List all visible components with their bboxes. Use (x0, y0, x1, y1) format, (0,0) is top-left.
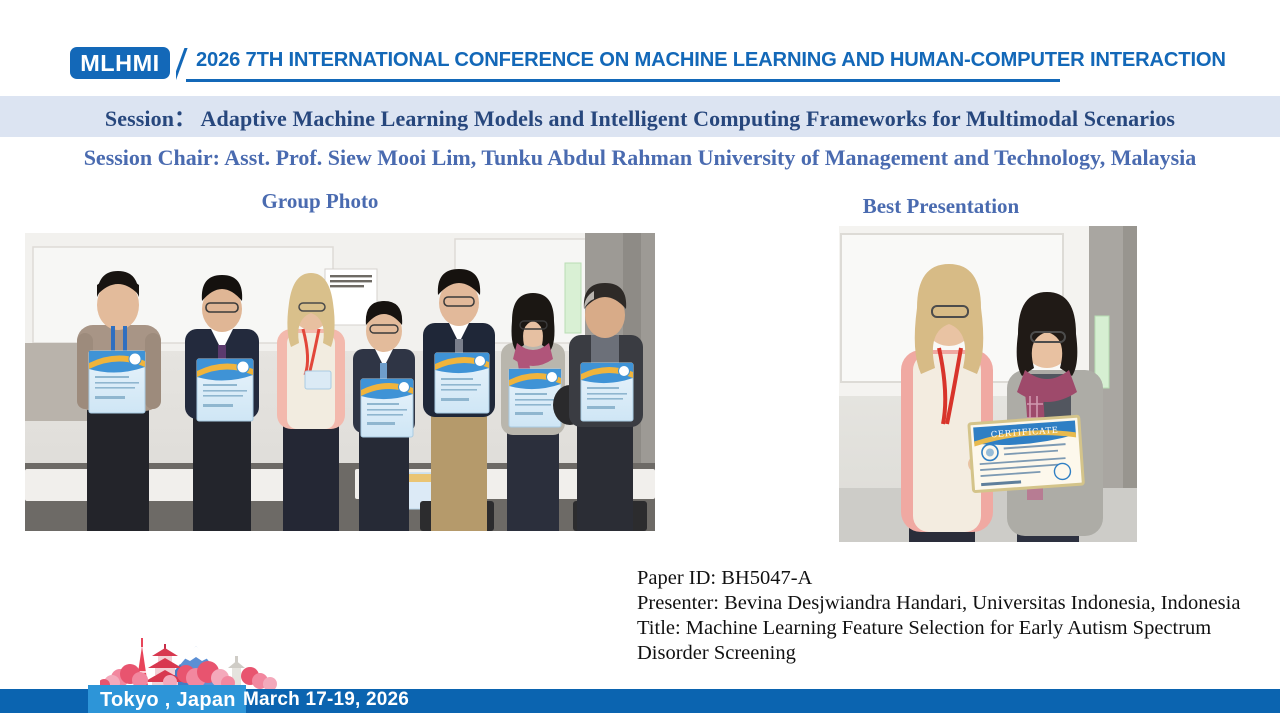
group-photo-image (25, 233, 655, 531)
footer-date-text: March 17-19, 2026 (243, 689, 409, 711)
session-title-text: Session： Adaptive Machine Learning Model… (105, 101, 1175, 133)
footer-location-chip: Tokyo , Japan (88, 685, 246, 715)
logo-divider-slash-icon (176, 48, 198, 81)
mlhmi-logo: MLHMI (70, 47, 170, 79)
slide-header: MLHMI 2026 7TH INTERNATIONAL CONFERENCE … (0, 0, 1280, 95)
paper-title-line: Title: Machine Learning Feature Selectio… (637, 616, 1277, 666)
footer-bottom-margin (0, 713, 1280, 720)
conference-slide: MLHMI 2026 7TH INTERNATIONAL CONFERENCE … (0, 0, 1280, 720)
footer-date: March 17-19, 2026 (243, 685, 409, 715)
paper-id-line: Paper ID: BH5047-A (637, 566, 1277, 591)
mlhmi-logo-text: MLHMI (80, 52, 159, 75)
paper-info-block: Paper ID: BH5047-A Presenter: Bevina Des… (637, 566, 1277, 666)
session-title-bar: Session： Adaptive Machine Learning Model… (0, 96, 1280, 137)
session-chair-line: Session Chair: Asst. Prof. Siew Mooi Lim… (0, 145, 1280, 171)
footer-location-text: Tokyo , Japan (100, 689, 236, 712)
header-underline (186, 79, 1060, 82)
best-presentation-image: CERTIFICATE (839, 226, 1137, 542)
conference-title: 2026 7TH INTERNATIONAL CONFERENCE ON MAC… (196, 48, 1226, 72)
best-presentation-label: Best Presentation (812, 194, 1070, 219)
paper-presenter-line: Presenter: Bevina Desjwiandra Handari, U… (637, 591, 1277, 616)
tokyo-skyline-illustration (100, 628, 280, 690)
group-photo-label: Group Photo (180, 189, 460, 214)
